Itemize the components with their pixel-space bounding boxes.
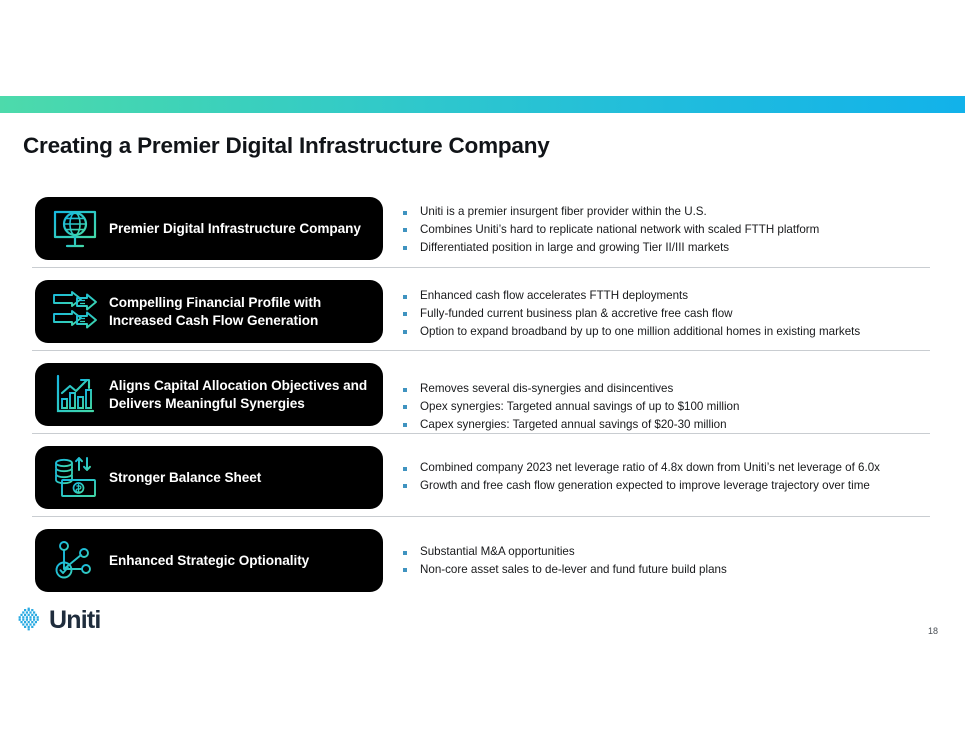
slide-canvas: Creating a Premier Digital Infrastructur… — [0, 0, 965, 744]
bullet-text: Enhanced cash flow accelerates FTTH depl… — [420, 288, 688, 304]
bullet-list: Substantial M&A opportunities Non-core a… — [403, 544, 948, 580]
row-separator — [32, 433, 930, 434]
bullet-text: Capex synergies: Targeted annual savings… — [420, 417, 727, 433]
bullet-marker-icon — [403, 405, 407, 409]
page-number: 18 — [928, 626, 938, 636]
row-separator — [32, 267, 930, 268]
uniti-dot-circle-logo-icon — [16, 607, 43, 634]
bullet-marker-icon — [403, 551, 407, 555]
list-item: Option to expand broadband by up to one … — [403, 324, 948, 340]
list-item: Uniti is a premier insurgent fiber provi… — [403, 204, 948, 220]
bullet-marker-icon — [403, 484, 407, 488]
bullet-marker-icon — [403, 312, 407, 316]
pill-label: Compelling Financial Profile with Increa… — [109, 294, 383, 330]
bullet-text: Uniti is a premier insurgent fiber provi… — [420, 204, 707, 220]
row-separator — [32, 350, 930, 351]
bullet-text: Combines Uniti’s hard to replicate natio… — [420, 222, 819, 238]
pill-premier-digital-infrastructure[interactable]: Premier Digital Infrastructure Company — [35, 197, 383, 260]
bullet-text: Option to expand broadband by up to one … — [420, 324, 860, 340]
list-item: Removes several dis-synergies and disinc… — [403, 381, 948, 397]
list-item: Capex synergies: Targeted annual savings… — [403, 417, 948, 433]
coins-cash-arrows-icon — [35, 456, 109, 500]
monitor-globe-icon — [35, 207, 109, 251]
bullet-marker-icon — [403, 211, 407, 215]
list-item: Enhanced cash flow accelerates FTTH depl… — [403, 288, 948, 304]
pill-enhanced-strategic-optionality[interactable]: Enhanced Strategic Optionality — [35, 529, 383, 592]
bullet-text: Growth and free cash flow generation exp… — [420, 478, 870, 494]
pill-compelling-financial-profile[interactable]: Compelling Financial Profile with Increa… — [35, 280, 383, 343]
bullet-text: Differentiated position in large and gro… — [420, 240, 729, 256]
bullet-list: Enhanced cash flow accelerates FTTH depl… — [403, 288, 948, 342]
cash-flow-arrows-icon — [35, 290, 109, 334]
list-item: Differentiated position in large and gro… — [403, 240, 948, 256]
bullet-list: Removes several dis-synergies and disinc… — [403, 381, 948, 435]
bullet-text: Fully-funded current business plan & acc… — [420, 306, 733, 322]
bullet-marker-icon — [403, 568, 407, 572]
list-item: Opex synergies: Targeted annual savings … — [403, 399, 948, 415]
bullet-text: Substantial M&A opportunities — [420, 544, 575, 560]
list-item: Substantial M&A opportunities — [403, 544, 948, 560]
pill-label: Premier Digital Infrastructure Company — [109, 220, 371, 238]
top-accent-gradient-bar — [0, 96, 965, 113]
list-item: Combined company 2023 net leverage ratio… — [403, 460, 948, 476]
bullet-marker-icon — [403, 330, 407, 334]
list-item: Non-core asset sales to de-lever and fun… — [403, 562, 948, 578]
bullet-marker-icon — [403, 388, 407, 392]
bullet-marker-icon — [403, 246, 407, 250]
bullet-list: Uniti is a premier insurgent fiber provi… — [403, 204, 948, 258]
bullet-text: Combined company 2023 net leverage ratio… — [420, 460, 880, 476]
bar-chart-growth-icon — [35, 373, 109, 417]
list-item: Combines Uniti’s hard to replicate natio… — [403, 222, 948, 238]
page-title: Creating a Premier Digital Infrastructur… — [23, 133, 550, 159]
pill-aligns-capital-allocation[interactable]: Aligns Capital Allocation Objectives and… — [35, 363, 383, 426]
network-nodes-check-icon — [35, 539, 109, 583]
row-separator — [32, 516, 930, 517]
pill-stronger-balance-sheet[interactable]: Stronger Balance Sheet — [35, 446, 383, 509]
bullet-marker-icon — [403, 295, 407, 299]
bullet-text: Removes several dis-synergies and disinc… — [420, 381, 673, 397]
uniti-wordmark: Uniti — [49, 608, 101, 633]
bullet-text: Opex synergies: Targeted annual savings … — [420, 399, 739, 415]
pill-label: Aligns Capital Allocation Objectives and… — [109, 377, 383, 413]
bullet-marker-icon — [403, 423, 407, 427]
list-item: Growth and free cash flow generation exp… — [403, 478, 948, 494]
uniti-logo: Uniti — [16, 607, 101, 634]
bullet-marker-icon — [403, 228, 407, 232]
bullet-list: Combined company 2023 net leverage ratio… — [403, 460, 948, 496]
list-item: Fully-funded current business plan & acc… — [403, 306, 948, 322]
pill-label: Enhanced Strategic Optionality — [109, 552, 319, 570]
bullet-marker-icon — [403, 467, 407, 471]
bullet-text: Non-core asset sales to de-lever and fun… — [420, 562, 727, 578]
pill-label: Stronger Balance Sheet — [109, 469, 271, 487]
